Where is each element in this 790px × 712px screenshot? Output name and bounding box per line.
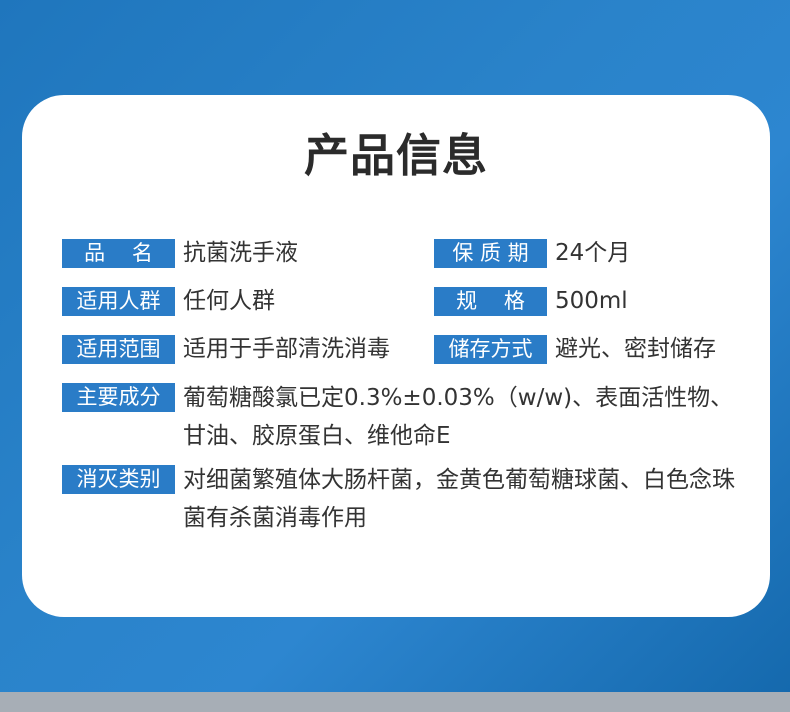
field-label-badge: 适用人群 <box>62 287 175 316</box>
info-rows: 品 名 抗菌洗手液 保 质 期 24个月 适用人群 任何人群 规 格 500ml <box>62 239 752 547</box>
field-value: 适用于手部清洗消毒 <box>183 335 390 364</box>
info-field-main-ingredients: 主要成分 葡萄糖酸氯已定0.3%±0.03%（w/w)、表面活性物、甘油、胶原蛋… <box>62 383 752 455</box>
footer-strip <box>0 692 790 712</box>
field-label-badge: 规 格 <box>434 287 547 316</box>
info-field-storage-method: 储存方式 避光、密封储存 <box>434 335 752 364</box>
field-label-badge: 主要成分 <box>62 383 175 412</box>
field-label-badge: 品 名 <box>62 239 175 268</box>
product-info-card: 产品信息 品 名 抗菌洗手液 保 质 期 24个月 适用人群 任何人群 <box>22 95 770 617</box>
info-field-shelf-life: 保 质 期 24个月 <box>434 239 752 268</box>
field-value: 对细菌繁殖体大肠杆菌，金黄色葡萄糖球菌、白色念珠菌有杀菌消毒作用 <box>183 461 752 537</box>
field-label-badge: 储存方式 <box>434 335 547 364</box>
product-info-page: 产品信息 品 名 抗菌洗手液 保 质 期 24个月 适用人群 任何人群 <box>0 0 790 712</box>
field-label-badge: 适用范围 <box>62 335 175 364</box>
field-label-badge: 保 质 期 <box>434 239 547 268</box>
field-value: 避光、密封储存 <box>555 335 716 364</box>
info-field-target-users: 适用人群 任何人群 <box>62 287 434 316</box>
info-row: 品 名 抗菌洗手液 保 质 期 24个月 <box>62 239 752 268</box>
field-value: 抗菌洗手液 <box>183 239 298 268</box>
field-value: 500ml <box>555 287 628 316</box>
field-value: 葡萄糖酸氯已定0.3%±0.03%（w/w)、表面活性物、甘油、胶原蛋白、维他命… <box>183 379 752 455</box>
info-row: 适用范围 适用于手部清洗消毒 储存方式 避光、密封储存 <box>62 335 752 364</box>
field-label-badge: 消灭类别 <box>62 465 175 494</box>
field-value: 24个月 <box>555 239 630 268</box>
field-value: 任何人群 <box>183 287 275 316</box>
info-field-scope-of-use: 适用范围 适用于手部清洗消毒 <box>62 335 434 364</box>
info-field-product-name: 品 名 抗菌洗手液 <box>62 239 434 268</box>
info-field-specification: 规 格 500ml <box>434 287 752 316</box>
page-title: 产品信息 <box>22 133 770 178</box>
info-row: 适用人群 任何人群 规 格 500ml <box>62 287 752 316</box>
info-field-elimination-category: 消灭类别 对细菌繁殖体大肠杆菌，金黄色葡萄糖球菌、白色念珠菌有杀菌消毒作用 <box>62 465 752 537</box>
